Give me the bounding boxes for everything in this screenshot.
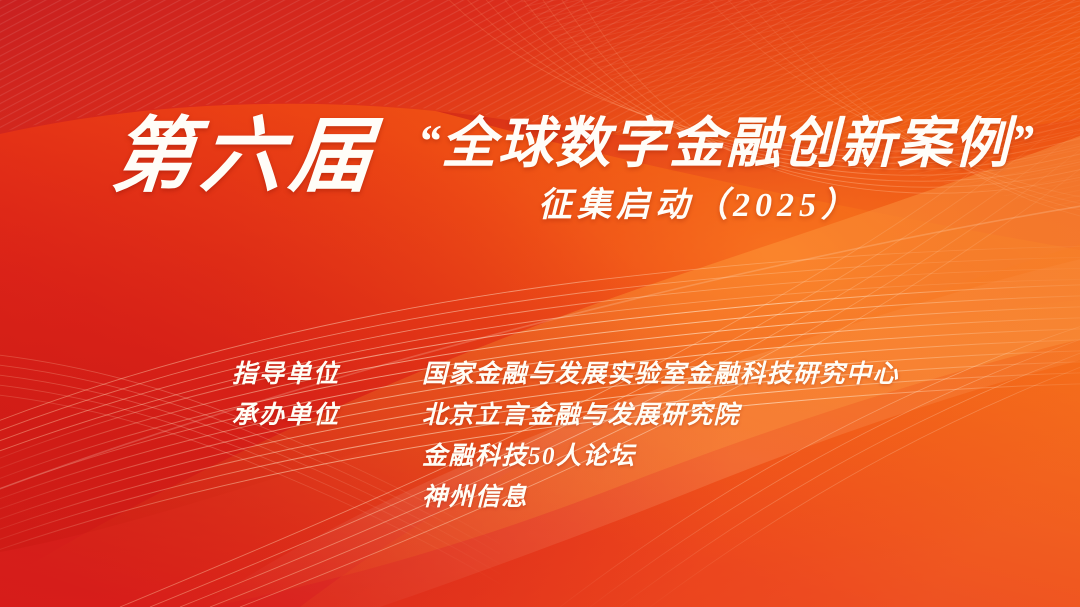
title-block: “全球数字金融创新案例” 征集启动（2025） bbox=[418, 108, 1038, 227]
edition-heading: 第六届 bbox=[108, 112, 383, 202]
credit-row: 承办单位 北京立言金融与发展研究院 bbox=[0, 401, 1080, 442]
credit-label: 指导单位 bbox=[232, 360, 340, 390]
headline-group: 第六届 “全球数字金融创新案例” 征集启动（2025） bbox=[0, 108, 1080, 218]
credit-value: 北京立言金融与发展研究院 bbox=[422, 401, 740, 431]
close-quote-mark: ” bbox=[1011, 115, 1034, 166]
main-title-text: 全球数字金融创新案例 bbox=[441, 113, 1011, 174]
poster-canvas: 第六届 “全球数字金融创新案例” 征集启动（2025） 指导单位 国家金融与发展… bbox=[0, 0, 1080, 607]
credit-value: 金融科技50人论坛 bbox=[422, 442, 636, 472]
credit-label: 承办单位 bbox=[232, 401, 340, 431]
main-title: “全球数字金融创新案例” bbox=[418, 108, 1038, 177]
credit-row: 指导单位 国家金融与发展实验室金融科技研究中心 bbox=[0, 360, 1080, 401]
credits-block: 指导单位 国家金融与发展实验室金融科技研究中心 承办单位 北京立言金融与发展研究… bbox=[0, 360, 1080, 524]
poster-content: 第六届 “全球数字金融创新案例” 征集启动（2025） 指导单位 国家金融与发展… bbox=[0, 0, 1080, 607]
open-quote-mark: “ bbox=[418, 115, 441, 166]
credit-row: 金融科技50人论坛 bbox=[0, 442, 1080, 483]
credit-value: 国家金融与发展实验室金融科技研究中心 bbox=[422, 360, 899, 390]
credit-row: 神州信息 bbox=[0, 483, 1080, 524]
credit-value: 神州信息 bbox=[422, 483, 528, 513]
sub-title: 征集启动（2025） bbox=[418, 185, 1038, 227]
